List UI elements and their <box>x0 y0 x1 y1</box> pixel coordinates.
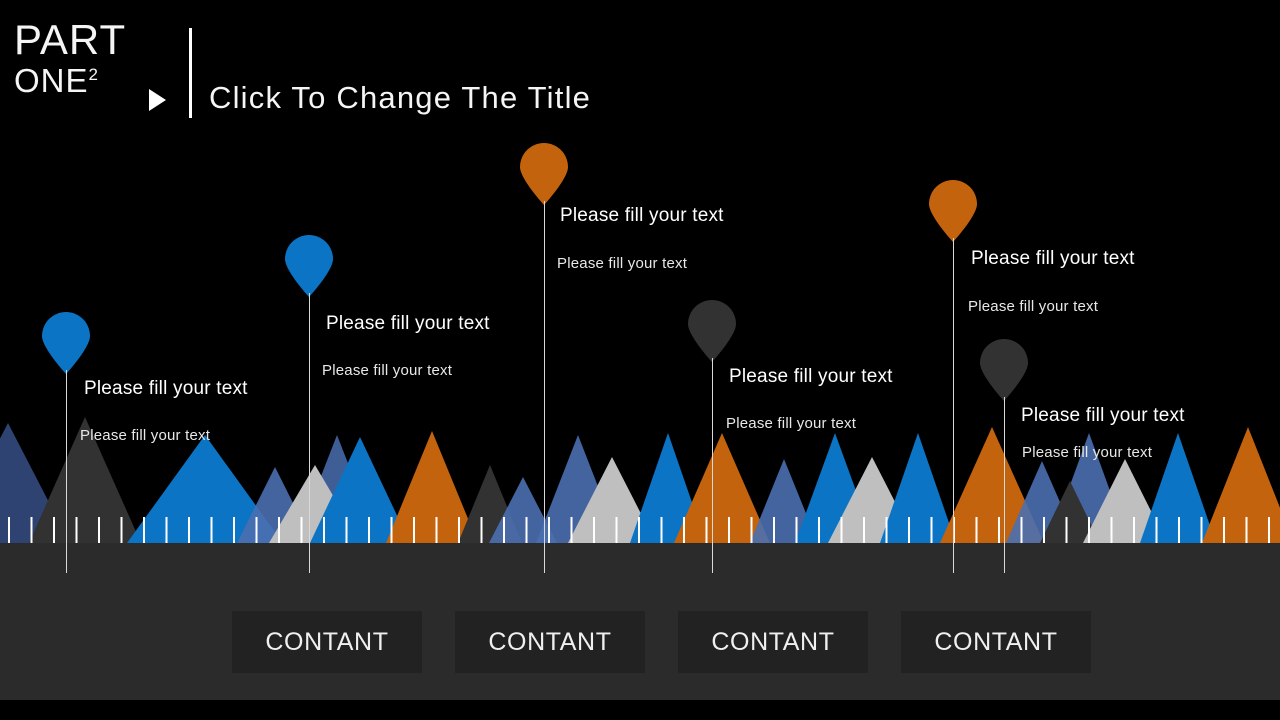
scale-tick <box>1268 517 1270 543</box>
scale-tick <box>31 517 33 543</box>
scale-tick <box>121 517 123 543</box>
scale-tick <box>1066 517 1068 543</box>
scale-tick <box>436 517 438 543</box>
play-triangle-icon <box>149 89 166 111</box>
part-number-block: PART ONE2 <box>14 18 184 100</box>
scale-tick <box>638 517 640 543</box>
slide-canvas: Please fill your textPlease fill your te… <box>0 0 1280 720</box>
pin-subtitle-text[interactable]: Please fill your text <box>726 415 856 432</box>
scale-tick <box>1111 517 1113 543</box>
scale-tick <box>413 517 415 543</box>
scale-tick <box>211 517 213 543</box>
scale-tick <box>503 517 505 543</box>
balloon-pin-icon[interactable] <box>978 339 1030 401</box>
contant-button[interactable]: CONTANT <box>901 611 1091 673</box>
part-word-label: PART <box>14 18 184 62</box>
bottom-bar: CONTANTCONTANTCONTANTCONTANT <box>0 573 1280 700</box>
scale-tick <box>593 517 595 543</box>
contant-button[interactable]: CONTANT <box>678 611 868 673</box>
scale-tick <box>1021 517 1023 543</box>
scale-tick <box>1156 517 1158 543</box>
contant-button[interactable]: CONTANT <box>232 611 422 673</box>
pin-stem-line <box>544 201 545 631</box>
scale-tick <box>976 517 978 543</box>
scale-tick <box>233 517 235 543</box>
scale-tick <box>818 517 820 543</box>
scale-tick <box>1088 517 1090 543</box>
scale-tick <box>571 517 573 543</box>
scale-tick <box>998 517 1000 543</box>
scale-tick <box>1133 517 1135 543</box>
scale-tick <box>1201 517 1203 543</box>
bottom-black-strip <box>0 700 1280 720</box>
scale-tick <box>841 517 843 543</box>
scale-tick <box>1178 517 1180 543</box>
pin-subtitle-text[interactable]: Please fill your text <box>80 427 210 444</box>
scale-tick <box>886 517 888 543</box>
balloon-pin-icon[interactable] <box>283 235 335 297</box>
scale-tick <box>301 517 303 543</box>
mountain-peak <box>386 431 478 543</box>
pin-title-text[interactable]: Please fill your text <box>84 378 248 400</box>
pin-title-text[interactable]: Please fill your text <box>326 313 490 335</box>
scale-tick <box>1043 517 1045 543</box>
scale-tick <box>256 517 258 543</box>
scale-tick <box>8 517 10 543</box>
scale-tick <box>526 517 528 543</box>
scale-tick <box>863 517 865 543</box>
scale-tick <box>458 517 460 543</box>
slide-header: PART ONE2 Click To Change The Title <box>0 0 1280 135</box>
pin-subtitle-text[interactable]: Please fill your text <box>968 298 1098 315</box>
scale-tick <box>908 517 910 543</box>
scale-tick <box>346 517 348 543</box>
scale-tick <box>391 517 393 543</box>
contant-button[interactable]: CONTANT <box>455 611 645 673</box>
scale-tick <box>548 517 550 543</box>
pin-subtitle-text[interactable]: Please fill your text <box>1022 444 1152 461</box>
pin-title-text[interactable]: Please fill your text <box>1021 405 1185 427</box>
scale-tick <box>773 517 775 543</box>
mountain-peak <box>674 433 770 543</box>
scale-tick <box>931 517 933 543</box>
scale-tick <box>143 517 145 543</box>
pin-title-text[interactable]: Please fill your text <box>729 366 893 388</box>
pin-title-text[interactable]: Please fill your text <box>971 248 1135 270</box>
scale-tick <box>98 517 100 543</box>
scale-tick <box>278 517 280 543</box>
scale-tick <box>706 517 708 543</box>
scale-tick <box>1246 517 1248 543</box>
scale-tick <box>751 517 753 543</box>
scale-tick <box>796 517 798 543</box>
scale-tick <box>1223 517 1225 543</box>
scale-tick <box>616 517 618 543</box>
pin-subtitle-text[interactable]: Please fill your text <box>322 362 452 379</box>
balloon-pin-icon[interactable] <box>40 312 92 374</box>
one-text: ONE <box>14 62 89 99</box>
scale-tick <box>728 517 730 543</box>
pin-subtitle-text[interactable]: Please fill your text <box>557 255 687 272</box>
scale-tick <box>683 517 685 543</box>
header-divider <box>189 28 192 118</box>
balloon-pin-icon[interactable] <box>518 143 570 205</box>
scale-tick <box>166 517 168 543</box>
balloon-pin-icon[interactable] <box>686 300 738 362</box>
scale-tick <box>323 517 325 543</box>
scale-tick <box>76 517 78 543</box>
scale-tick <box>661 517 663 543</box>
scale-tick <box>481 517 483 543</box>
balloon-pin-icon[interactable] <box>927 180 979 242</box>
mountain-peak <box>880 433 956 543</box>
one-superscript: 2 <box>89 65 99 84</box>
mountain-base-band <box>0 543 1280 573</box>
page-title[interactable]: Click To Change The Title <box>209 80 591 116</box>
scale-tick <box>188 517 190 543</box>
scale-tick <box>53 517 55 543</box>
pin-title-text[interactable]: Please fill your text <box>560 205 724 227</box>
scale-tick <box>368 517 370 543</box>
